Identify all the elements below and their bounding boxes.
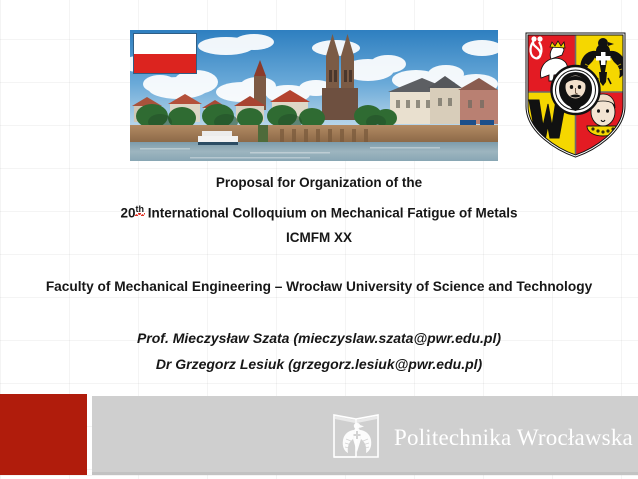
affiliation-line: Faculty of Mechanical Engineering – Wroc…: [0, 279, 638, 294]
contact-line-1: Prof. Mieczysław Szata (mieczyslaw.szata…: [0, 330, 638, 346]
poland-flag-icon: [133, 33, 197, 74]
wroclaw-coat-of-arms-icon: [521, 28, 630, 159]
open-book-eagle-emblem-icon: [330, 409, 384, 465]
title-line-1: Proposal for Organization of the: [0, 175, 638, 190]
ordinal-suffix-superscript: th: [136, 204, 145, 214]
flag-red-stripe: [134, 54, 196, 74]
wroclaw-panorama-photo: [130, 30, 498, 161]
flag-white-stripe: [134, 34, 196, 54]
colloquium-title-rest: International Colloquium on Mechanical F…: [144, 206, 518, 221]
colloquium-ordinal-number: 20: [120, 206, 135, 221]
politechnika-wroclawska-logo: Politechnika Wrocławska: [330, 406, 633, 468]
logo-wordmark: Politechnika Wrocławska: [394, 426, 633, 449]
title-line-3-acronym: ICMFM XX: [0, 230, 638, 245]
footer-red-accent-block: [0, 394, 87, 475]
presentation-slide: Proposal for Organization of the 20th In…: [0, 0, 638, 479]
contact-line-2: Dr Grzegorz Lesiuk (grzegorz.lesiuk@pwr.…: [0, 356, 638, 372]
title-line-2: 20th International Colloquium on Mechani…: [0, 204, 638, 221]
